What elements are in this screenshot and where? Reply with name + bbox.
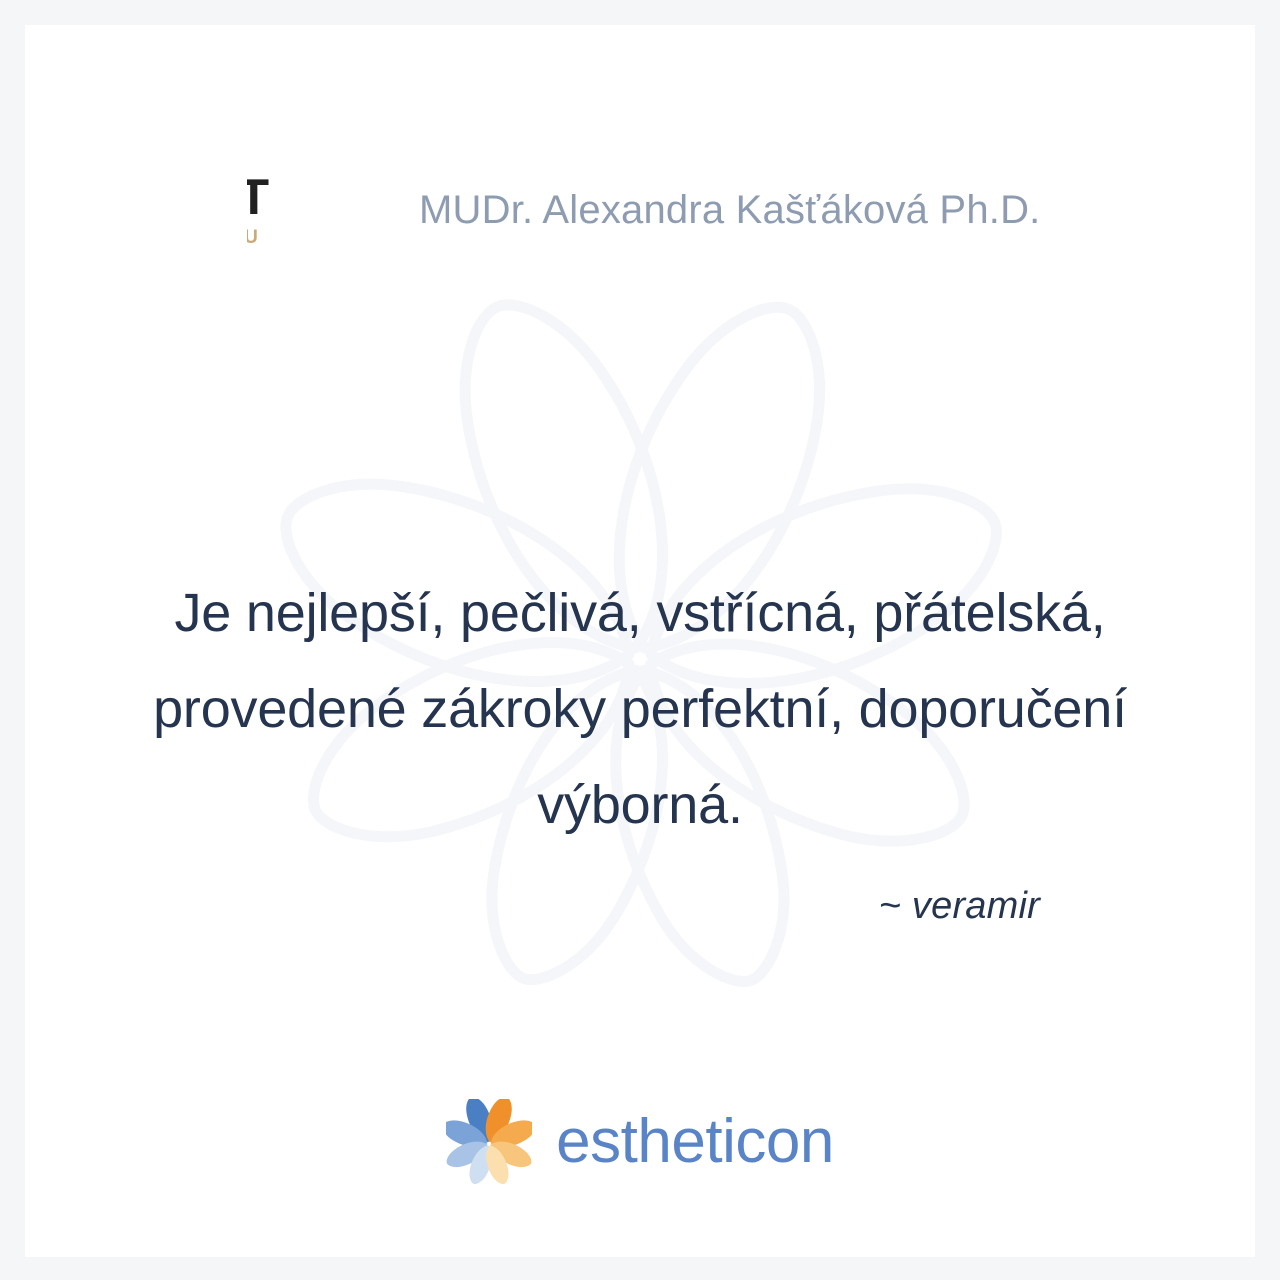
doctor-name: MUDr. Alexandra Kašťáková Ph.D. bbox=[419, 188, 1040, 233]
clinic-logo-line1: ENT bbox=[247, 169, 393, 225]
estheticon-wordmark: estheticon bbox=[556, 1111, 834, 1173]
review-quote-text: Je nejlepší, pečlivá, vstřícná, přátelsk… bbox=[25, 565, 1255, 853]
clinic-logo-line2: RUM ZU bbox=[247, 227, 393, 249]
clinic-logo-cropped: ENT RUM ZU bbox=[247, 167, 393, 253]
review-header: ENT RUM ZU MUDr. Alexandra Kašťáková Ph.… bbox=[247, 165, 1040, 255]
review-card: ENT RUM ZU MUDr. Alexandra Kašťáková Ph.… bbox=[25, 25, 1255, 1257]
estheticon-brand: estheticon bbox=[25, 1099, 1255, 1185]
review-author: ~ veramir bbox=[25, 885, 1040, 928]
review-quote-block: Je nejlepší, pečlivá, vstřícná, přátelsk… bbox=[25, 565, 1255, 928]
estheticon-flower-icon bbox=[446, 1099, 532, 1185]
